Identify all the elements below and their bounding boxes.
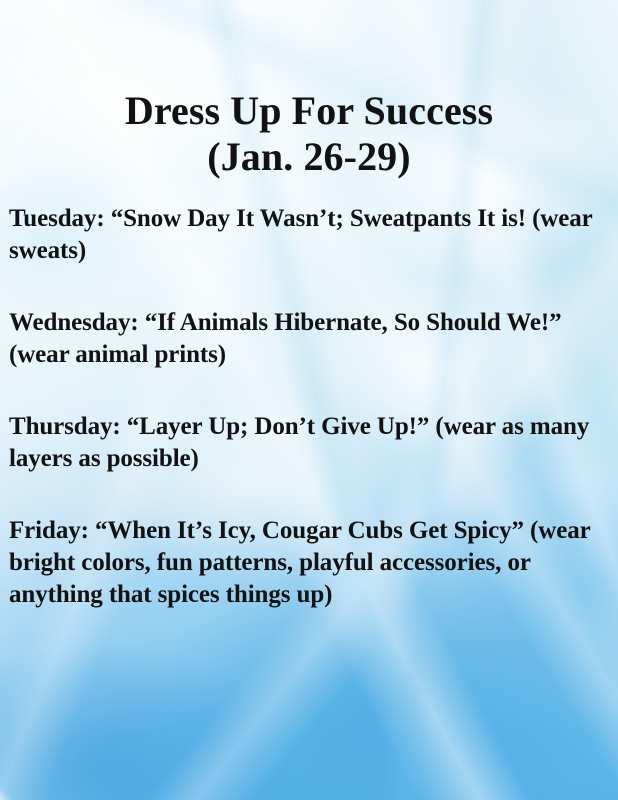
title-line-dates: (Jan. 26-29) xyxy=(9,134,609,180)
day-block-friday: Friday: “When It’s Icy, Cougar Cubs Get … xyxy=(9,515,609,611)
day-block-thursday: Thursday: “Layer Up; Don’t Give Up!” (we… xyxy=(9,411,609,475)
poster: Dress Up For Success (Jan. 26-29) Tuesda… xyxy=(0,0,618,800)
day-block-tuesday: Tuesday: “Snow Day It Wasn’t; Sweatpants… xyxy=(9,203,609,267)
day-block-wednesday: Wednesday: “If Animals Hibernate, So Sho… xyxy=(9,307,609,371)
day-list: Tuesday: “Snow Day It Wasn’t; Sweatpants… xyxy=(9,203,609,611)
title-line-main: Dress Up For Success xyxy=(9,88,609,134)
poster-content: Dress Up For Success (Jan. 26-29) Tuesda… xyxy=(0,0,618,800)
page-title: Dress Up For Success (Jan. 26-29) xyxy=(9,0,609,180)
